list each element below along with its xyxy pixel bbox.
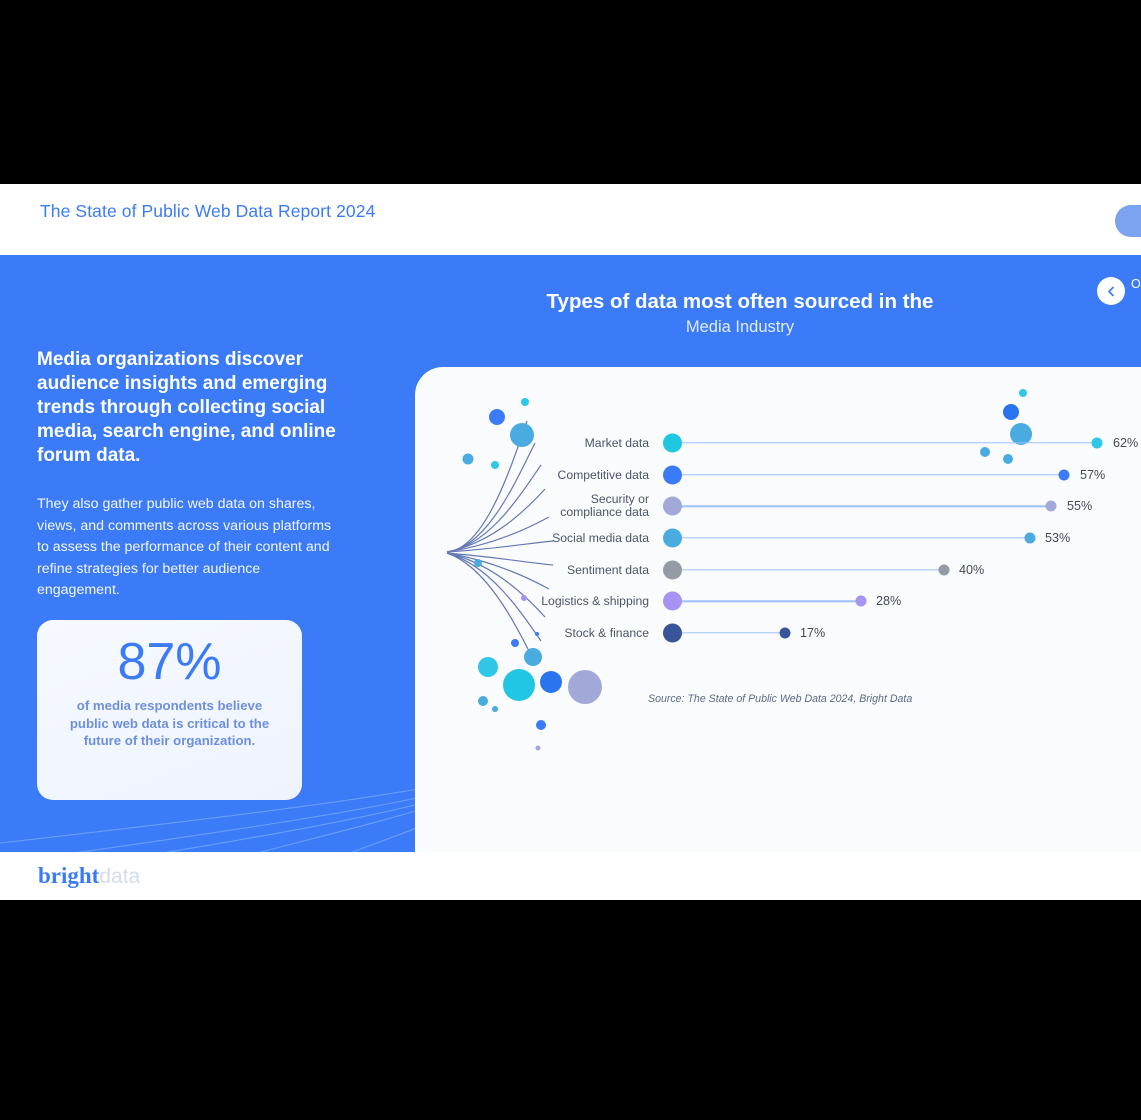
chart-card: Market data 62% Competitive data 57%: [415, 367, 1141, 852]
menu-button[interactable]: M: [1115, 205, 1141, 237]
lead-paragraph: Media organizations discover audience in…: [37, 348, 337, 468]
lollipop-chart: Market data 62% Competitive data 57%: [535, 427, 1141, 649]
row-stem: [671, 632, 784, 633]
back-button-label: O r: [1131, 277, 1141, 292]
row-end-dot: [1092, 437, 1103, 448]
row-stem: [671, 474, 1063, 475]
slide-body: Media organizations discover audience in…: [0, 255, 1141, 852]
row-value: 53%: [1045, 531, 1070, 545]
row-end-dot: [1059, 469, 1070, 480]
chart-row[interactable]: Security or compliance data 55%: [535, 490, 1141, 522]
letterbox-bottom: [0, 900, 1141, 1120]
chart-row[interactable]: Logistics & shipping 28%: [535, 585, 1141, 617]
row-value: 28%: [876, 594, 901, 608]
row-track: 55%: [663, 490, 1141, 522]
row-label: Security or compliance data: [535, 493, 663, 520]
row-track: 28%: [663, 585, 1141, 617]
row-label: Stock & finance: [535, 626, 663, 640]
row-stem: [671, 506, 1050, 507]
chart-title: Types of data most often sourced in the: [430, 289, 1050, 315]
logo-primary: bright: [38, 863, 99, 888]
row-track: 40%: [663, 554, 1141, 586]
chart-subtitle: Media Industry: [430, 318, 1050, 337]
row-label: Market data: [535, 436, 663, 450]
row-label: Social media data: [535, 531, 663, 545]
chart-row[interactable]: Social media data 53%: [535, 522, 1141, 554]
row-start-dot: [663, 623, 682, 642]
row-value: 40%: [959, 563, 984, 577]
chevron-left-icon: [1106, 286, 1117, 297]
row-start-dot: [663, 560, 682, 579]
row-track: 62%: [663, 427, 1141, 459]
back-button[interactable]: [1097, 277, 1125, 305]
row-value: 55%: [1067, 499, 1092, 513]
row-end-dot: [780, 627, 791, 638]
row-label: Sentiment data: [535, 563, 663, 577]
slide-canvas: The State of Public Web Data Report 2024…: [0, 0, 1141, 1120]
row-stem: [671, 537, 1029, 538]
row-stem: [671, 442, 1097, 443]
row-end-dot: [856, 596, 867, 607]
row-stem: [671, 569, 943, 570]
page-header: The State of Public Web Data Report 2024: [0, 184, 1141, 255]
row-stem: [671, 601, 860, 602]
row-value: 17%: [800, 626, 825, 640]
page-footer: brightdata: [0, 852, 1141, 900]
chart-row[interactable]: Sentiment data 40%: [535, 554, 1141, 586]
row-start-dot: [663, 528, 682, 547]
row-end-dot: [1046, 501, 1057, 512]
chart-row[interactable]: Market data 62%: [535, 427, 1141, 459]
row-start-dot: [663, 465, 682, 484]
brand-logo[interactable]: brightdata: [38, 863, 140, 889]
statistic-value: 87%: [117, 634, 221, 691]
row-start-dot: [663, 497, 682, 516]
row-value: 62%: [1113, 436, 1138, 450]
row-start-dot: [663, 592, 682, 611]
row-track: 53%: [663, 522, 1141, 554]
row-value: 57%: [1080, 468, 1105, 482]
row-end-dot: [939, 564, 950, 575]
row-label: Competitive data: [535, 468, 663, 482]
letterbox-top: [0, 0, 1141, 184]
chart-row[interactable]: Competitive data 57%: [535, 459, 1141, 491]
row-label: Logistics & shipping: [535, 594, 663, 608]
statistic-description: of media respondents believe public web …: [62, 697, 277, 750]
row-track: 57%: [663, 459, 1141, 491]
row-track: 17%: [663, 617, 1141, 649]
chart-row[interactable]: Stock & finance 17%: [535, 617, 1141, 649]
report-title: The State of Public Web Data Report 2024: [40, 201, 375, 222]
source-note: Source: The State of Public Web Data 202…: [648, 693, 912, 705]
statistic-card: 87% of media respondents believe public …: [37, 620, 302, 800]
row-end-dot: [1025, 532, 1036, 543]
logo-secondary: data: [99, 865, 140, 888]
body-paragraph: They also gather public web data on shar…: [37, 494, 337, 602]
row-start-dot: [663, 433, 682, 452]
